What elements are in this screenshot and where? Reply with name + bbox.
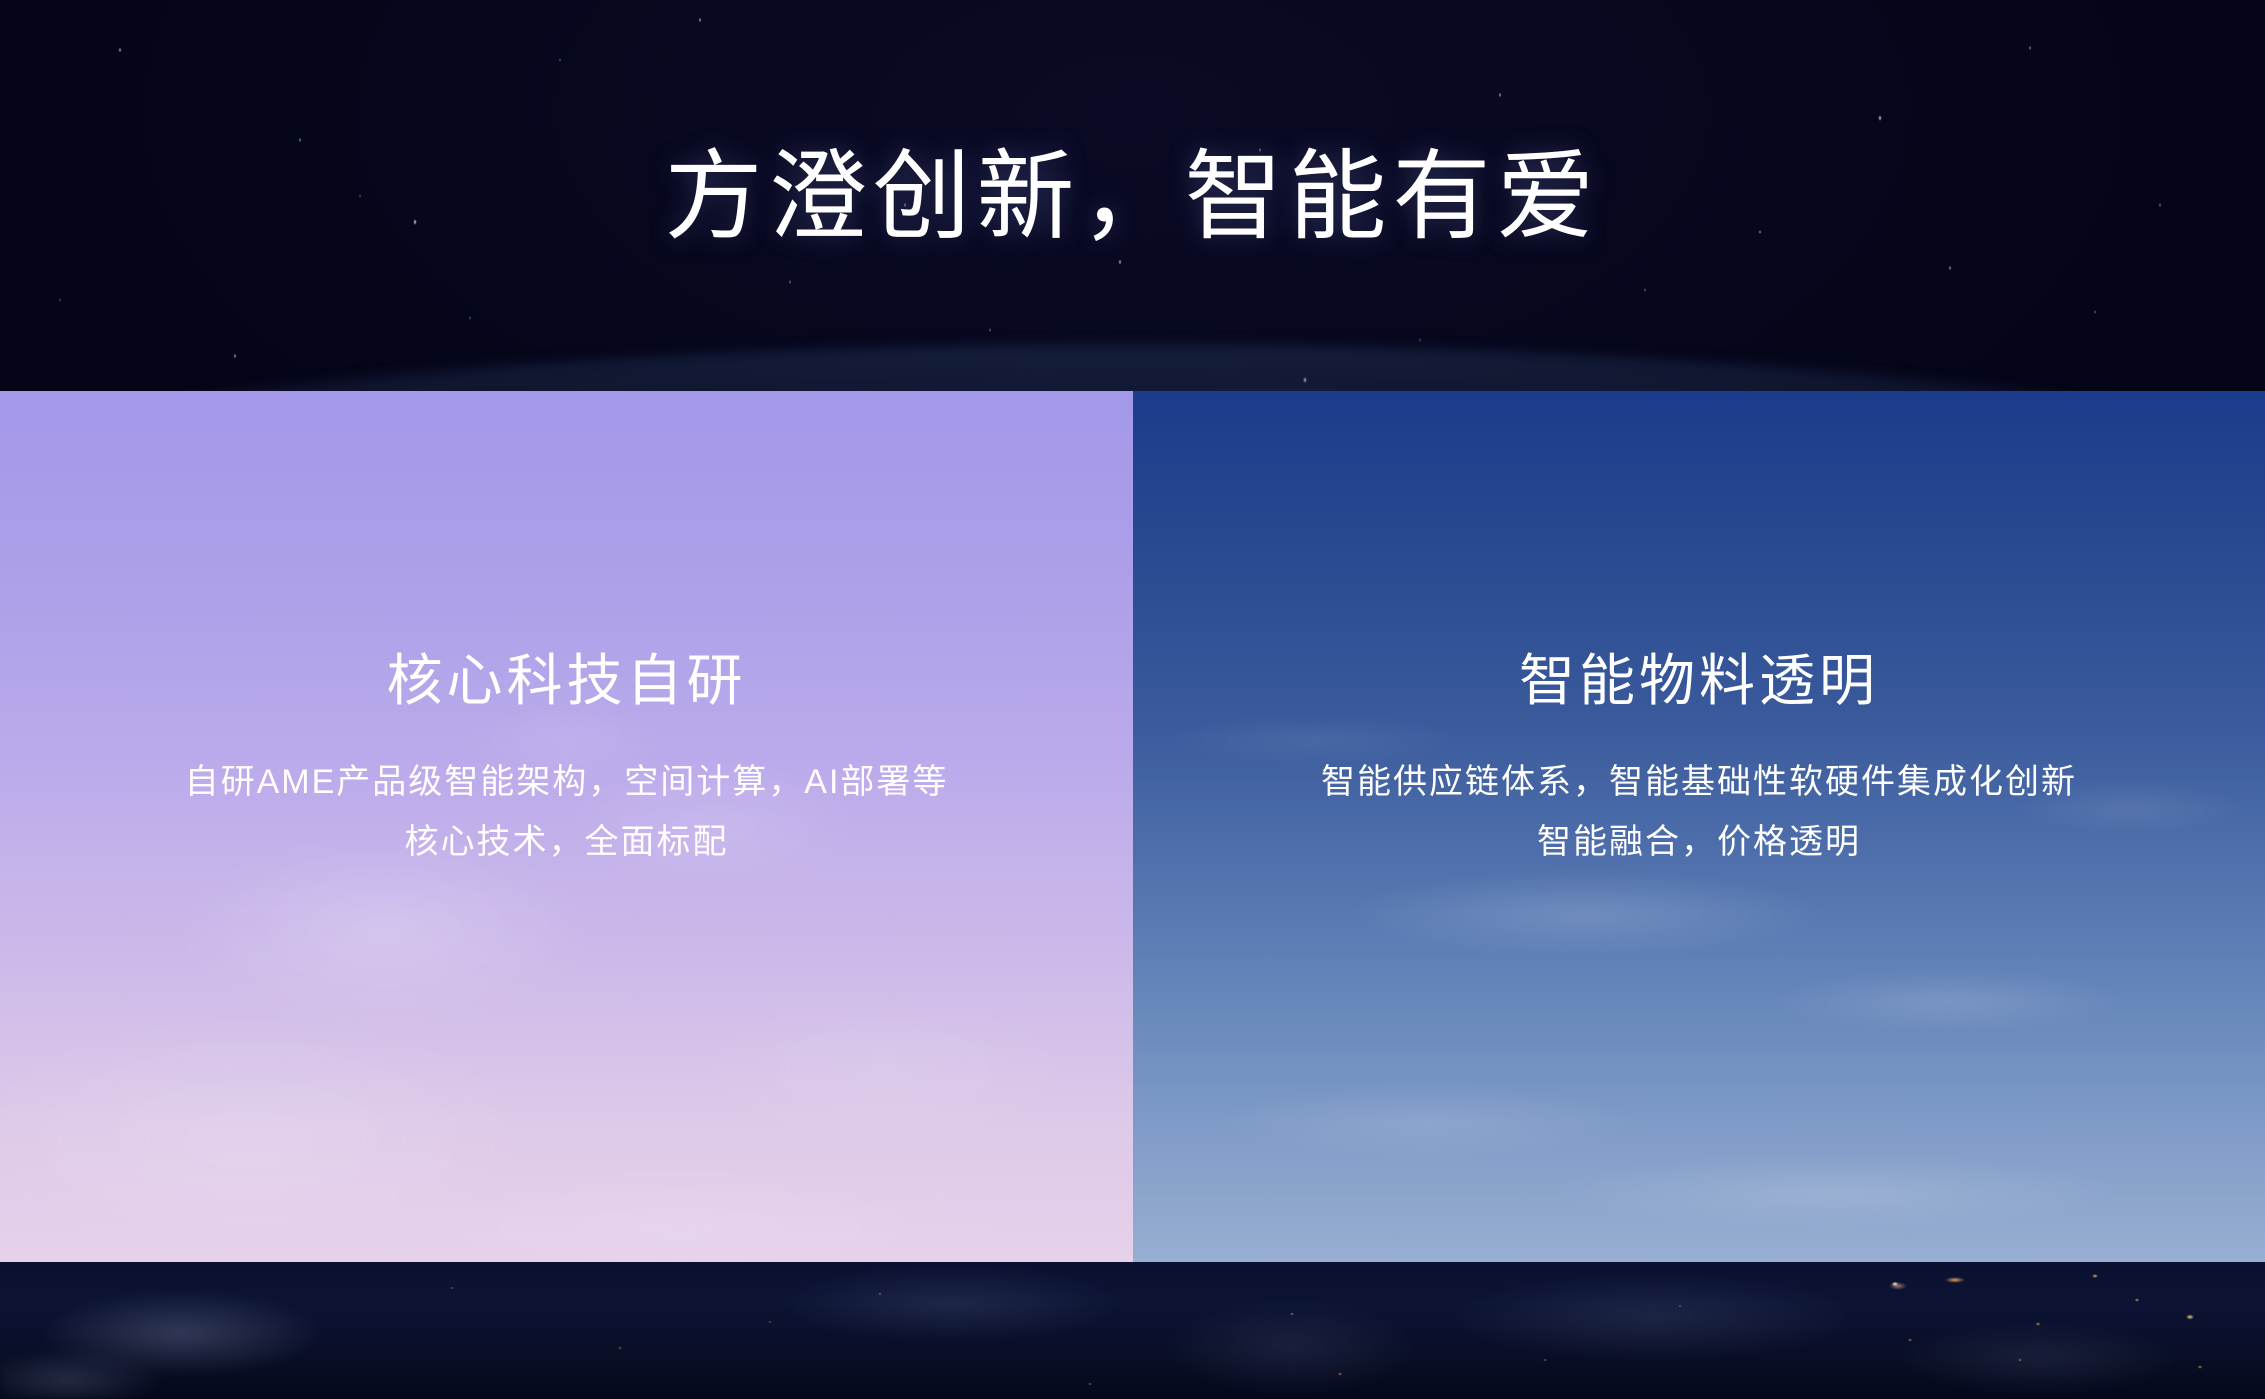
panel-body-line: 智能融合，价格透明 xyxy=(1321,813,2077,873)
panel-core-tech[interactable]: 核心科技自研 自研AME产品级智能架构，空间计算，AI部署等 核心技术，全面标配 xyxy=(0,391,1133,1262)
panel-body-core-tech: 自研AME产品级智能架构，空间计算，AI部署等 核心技术，全面标配 xyxy=(185,753,949,872)
panel-body-line: 智能供应链体系，智能基础性软硬件集成化创新 xyxy=(1321,753,2077,813)
panel-body-line: 核心技术，全面标配 xyxy=(185,813,949,873)
panel-heading-material-transparency: 智能物料透明 xyxy=(1519,653,1879,709)
presentation-slide: 方澄创新，智能有爱 核心科技自研 自研AME产品级智能架构，空间计算，AI部署等… xyxy=(0,0,2265,1399)
night-earth-strip xyxy=(0,1262,2265,1399)
feature-panels: 核心科技自研 自研AME产品级智能架构，空间计算，AI部署等 核心技术，全面标配… xyxy=(0,391,2265,1262)
slide-title: 方澄创新，智能有爱 xyxy=(664,147,1600,245)
title-area: 方澄创新，智能有爱 xyxy=(0,0,2265,391)
panel-material-transparency[interactable]: 智能物料透明 智能供应链体系，智能基础性软硬件集成化创新 智能融合，价格透明 xyxy=(1133,391,2265,1262)
panel-body-material-transparency: 智能供应链体系，智能基础性软硬件集成化创新 智能融合，价格透明 xyxy=(1321,753,2077,872)
panel-body-line: 自研AME产品级智能架构，空间计算，AI部署等 xyxy=(185,753,949,813)
city-lights-layer xyxy=(0,1262,2265,1399)
panel-heading-core-tech: 核心科技自研 xyxy=(387,653,747,709)
